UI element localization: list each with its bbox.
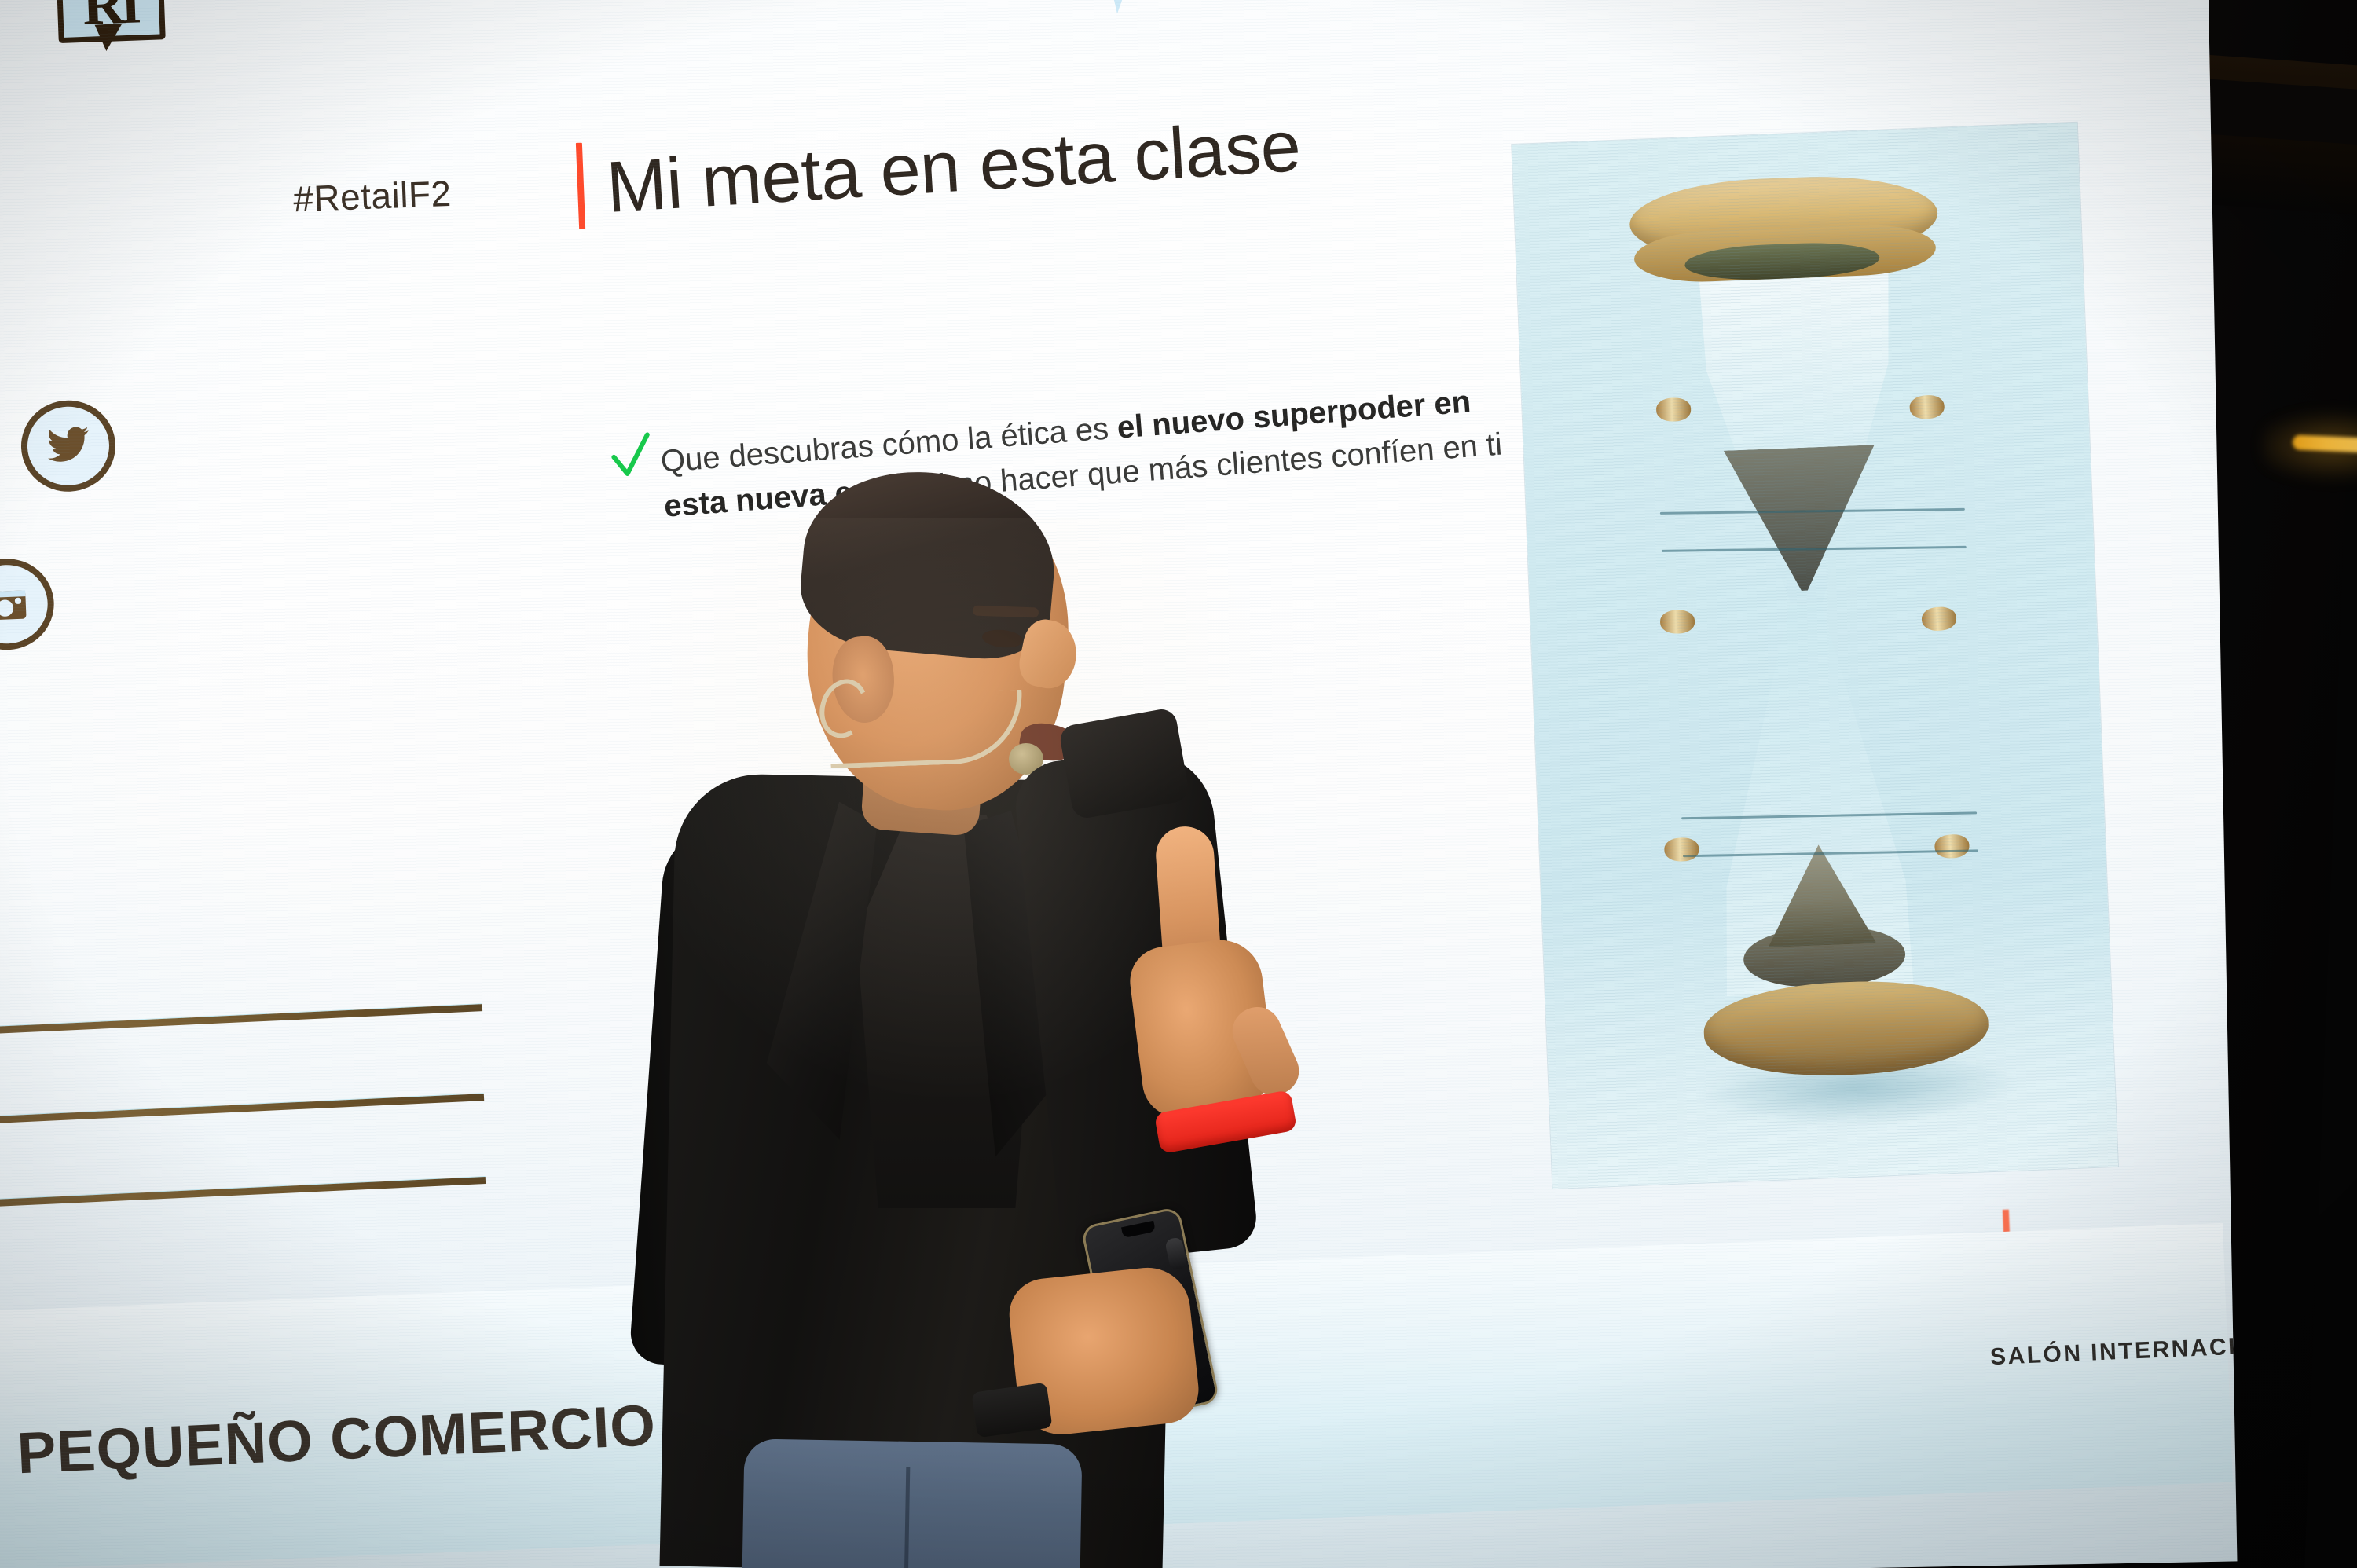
hourglass-shadow — [1703, 1057, 2016, 1130]
hourglass-sand-pile — [1765, 843, 1877, 947]
hourglass-wire-1 — [1660, 508, 1965, 515]
hourglass-sand-falling — [1724, 445, 1880, 593]
hourglass-top-cap — [1628, 172, 1939, 266]
hourglass-wire-2 — [1662, 546, 1967, 552]
hourglass-photo — [1512, 123, 2118, 1189]
hourglass-glass-top — [1695, 262, 1906, 607]
hourglass-top-inner — [1684, 240, 1881, 283]
speech-bubble-tail — [1112, 0, 1128, 14]
instagram-icon — [0, 557, 56, 652]
speaker-right-cuff — [1058, 707, 1191, 820]
hourglass-glass-bottom — [1708, 601, 1918, 996]
hourglass-base — [1703, 976, 1990, 1080]
decor-line-3 — [0, 1177, 486, 1207]
title-accent-bar — [576, 143, 585, 229]
speaker-figure — [597, 518, 1446, 1568]
hourglass-wire-3 — [1681, 811, 1977, 819]
hourglass-wire-4 — [1683, 849, 1978, 857]
hourglass-top-cap-rim — [1633, 222, 1937, 284]
hourglass-sand-base — [1743, 925, 1907, 989]
slide-bullet-text: Que descubras cómo la ética es el nuevo … — [659, 376, 1535, 529]
twitter-icon — [20, 398, 117, 493]
decor-line-1 — [0, 1004, 482, 1035]
slide-title: Mi meta en esta clase — [604, 105, 1303, 229]
decor-line-2 — [0, 1094, 484, 1124]
brand-logo-bubble-tail — [95, 24, 124, 52]
speaker-jeans — [742, 1438, 1082, 1568]
stage-photo: Rf — [0, 0, 2357, 1568]
green-check-icon — [610, 431, 653, 481]
slide-hashtag: #RetailF2 — [292, 172, 452, 221]
